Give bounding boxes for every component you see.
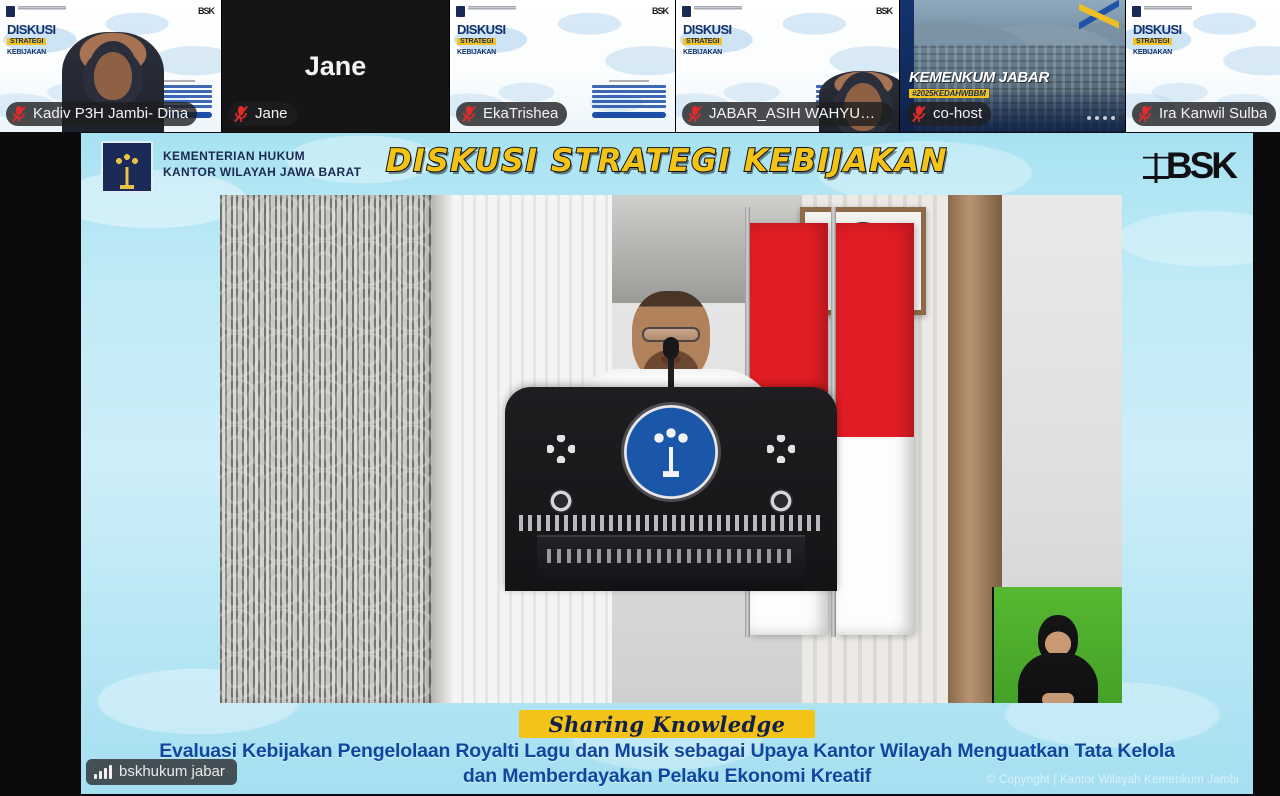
ministry-emblem-icon xyxy=(1132,6,1141,17)
participant-name-pill: Jane xyxy=(228,102,297,126)
banner-title: KEMENKUM JABAR xyxy=(909,69,1049,86)
participant-name-pill: EkaTrishea xyxy=(456,102,567,126)
sign-language-interpreter-insert xyxy=(992,587,1122,703)
indonesian-flag-right xyxy=(836,223,914,635)
participant-name-pill: Kadiv P3H Jambi- Dina xyxy=(6,102,197,126)
poster-sub1: STRATEGI xyxy=(683,38,722,45)
poster-heading: DISKUSI xyxy=(457,22,506,37)
mic-muted-icon xyxy=(461,105,477,123)
bsk-wordmark: BSK xyxy=(1166,145,1235,186)
poster-heading: DISKUSI xyxy=(1133,22,1182,37)
participant-name-pill: Ira Kanwil Sulba xyxy=(1132,102,1276,126)
participant-name-pill: co-host xyxy=(906,102,991,126)
signal-bars-icon xyxy=(94,765,112,779)
banner-hashtag: #2025KEDAHWBBM xyxy=(909,89,989,98)
bsk-logo: BSK xyxy=(876,6,892,16)
participant-tile-ekatrishea[interactable]: BSK DISKUSI STRATEGI KEBIJAKAN EkaTrishe… xyxy=(450,0,676,132)
participant-tile-kadiv-p3h-jambi-dina[interactable]: BSK DISKUSI STRATEGI KEBIJAKAN xyxy=(0,0,222,132)
swoosh-graphic-icon xyxy=(1079,0,1119,40)
sharing-knowledge-badge: Sharing Knowledge xyxy=(519,710,815,738)
presentation-slide: KEMENTERIAN HUKUM KANTOR WILAYAH JAWA BA… xyxy=(81,133,1253,794)
mic-muted-icon xyxy=(233,105,249,123)
podium-base xyxy=(537,535,805,591)
poster-blurb xyxy=(592,80,666,118)
stream-watermark: bskhukum jabar xyxy=(86,759,237,785)
bsk-logo: BSK xyxy=(198,6,214,16)
podium-gear-right-icon xyxy=(769,489,793,513)
participant-name: co-host xyxy=(933,102,982,126)
ministry-emblem-icon xyxy=(682,6,691,17)
interpreter-hands xyxy=(1042,693,1074,703)
bsk-logo: BSK xyxy=(652,6,668,16)
podium-ornament-right xyxy=(767,435,795,463)
bsk-logo: BSK xyxy=(1143,145,1235,187)
participant-name: JABAR_ASIH WAHYUNI... xyxy=(709,102,884,126)
participant-name-pill: JABAR_ASIH WAHYUNI... xyxy=(682,102,893,126)
filmstrip-page-dots[interactable] xyxy=(1087,116,1115,120)
poster-sub2: KEBIJAKAN xyxy=(1133,49,1172,56)
shared-screen-stage[interactable]: KEMENTERIAN HUKUM KANTOR WILAYAH JAWA BA… xyxy=(81,133,1253,794)
participant-tile-ira-kanwil-sulba[interactable]: DISKUSI STRATEGI KEBIJAKAN Ira Kanwil Su… xyxy=(1126,0,1280,132)
watermark-label: bskhukum jabar xyxy=(119,759,225,785)
speaker-person xyxy=(566,291,776,591)
mic-muted-icon xyxy=(11,105,27,123)
flag-cloth xyxy=(836,223,914,635)
ministry-wordmark xyxy=(1144,6,1192,10)
participant-tile-jabar-asih-wahyuni[interactable]: BSK DISKUSI STRATEGI KEBIJAKAN xyxy=(676,0,900,132)
ministry-emblem-icon xyxy=(456,6,465,17)
copyright-notice: © Copyright | Kantor Wilayah Kemenkum Ja… xyxy=(987,774,1239,786)
poster-sub1: STRATEGI xyxy=(7,38,46,45)
door-frame xyxy=(432,195,452,703)
sharing-knowledge-label: Sharing Knowledge xyxy=(519,710,815,738)
ministry-wordmark xyxy=(468,6,516,10)
zoom-meeting-window: BSK DISKUSI STRATEGI KEBIJAKAN xyxy=(0,0,1280,796)
poster-sub2: KEBIJAKAN xyxy=(457,49,496,56)
slide-title: DISKUSI STRATEGI KEBIJAKAN xyxy=(81,143,1253,179)
ministry-emblem-icon xyxy=(6,6,15,17)
ministry-wordmark xyxy=(694,6,742,10)
right-letterbox xyxy=(1253,133,1280,796)
participant-tile-jane[interactable]: Jane Jane xyxy=(222,0,450,132)
participant-name: Jane xyxy=(255,102,288,126)
poster-sub2: KEBIJAKAN xyxy=(683,49,722,56)
live-video-frame xyxy=(220,195,1122,703)
batik-screen-panel xyxy=(220,195,432,703)
mic-muted-icon xyxy=(911,105,927,123)
participant-name: Ira Kanwil Sulba xyxy=(1159,102,1267,126)
poster-heading: DISKUSI xyxy=(7,22,56,37)
participant-tile-co-host[interactable]: KEMENKUM JABAR #2025KEDAHWBBM co-host xyxy=(900,0,1126,132)
poster-heading: DISKUSI xyxy=(683,22,732,37)
participant-name: EkaTrishea xyxy=(483,102,558,126)
left-letterbox xyxy=(0,133,81,796)
mic-muted-icon xyxy=(1137,105,1153,123)
participant-filmstrip[interactable]: BSK DISKUSI STRATEGI KEBIJAKAN xyxy=(0,0,1280,132)
poster-sub1: STRATEGI xyxy=(457,38,496,45)
podium-gear-left-icon xyxy=(549,489,573,513)
caption-line-1: Evaluasi Kebijakan Pengelolaan Royalti L… xyxy=(81,739,1253,764)
poster-sub1: STRATEGI xyxy=(1133,38,1172,45)
participant-name: Kadiv P3H Jambi- Dina xyxy=(33,102,188,126)
podium-ornament-left xyxy=(547,435,575,463)
poster-sub2: KEBIJAKAN xyxy=(7,49,46,56)
ministry-wordmark xyxy=(18,6,66,10)
mic-muted-icon xyxy=(687,105,703,123)
webcam-person-head xyxy=(94,52,132,100)
podium xyxy=(505,387,837,591)
podium-emblem-icon xyxy=(624,405,718,499)
podium-pattern-band xyxy=(519,515,823,531)
